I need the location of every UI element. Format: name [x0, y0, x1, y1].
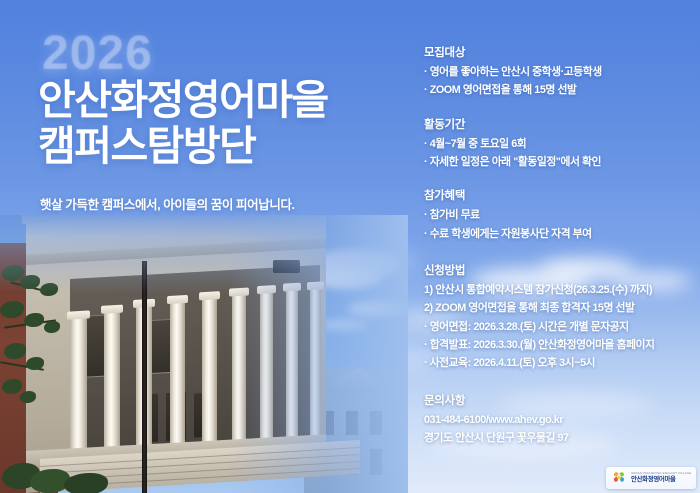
page-title-line2: 캠퍼스탐방단 — [38, 126, 396, 168]
section-line: 2) ZOOM 영어면접을 통해 최종 합격자 15명 선발 — [424, 301, 696, 316]
section-line: · ZOOM 영어면접을 통해 15명 선발 — [424, 83, 696, 98]
section-benefits: 참가혜택 · 참가비 무료 · 수료 학생에게는 자원봉사단 자격 부여 — [424, 187, 696, 242]
section-contact: 문의사항 031-484-6100/www.ahev.go.kr 경기도 안산시… — [424, 392, 696, 447]
campus-building-photo — [0, 215, 408, 493]
section-heading-benefits: 참가혜택 — [424, 187, 696, 203]
section-line: · 사전교육: 2026.4.11.(토) 오후 3시~5시 — [424, 356, 696, 371]
logo-text-block: ANSAN HWAJEONG ENGLISH VILLAGE 안산화정영어마을 — [631, 473, 682, 484]
portico-column — [260, 292, 273, 450]
section-apply: 신청방법 1) 안산시 통합예약시스템 참가신청(26.3.25.(수) 까지)… — [424, 262, 696, 372]
lamp-head — [273, 260, 300, 273]
secondary-building-window — [370, 411, 382, 435]
section-heading-contact: 문의사항 — [424, 392, 696, 408]
section-line: · 영어면접: 2026.3.28.(토) 시간은 개별 문자공지 — [424, 320, 696, 335]
page-title-line1: 안산화정영어마을 — [38, 80, 396, 122]
logo-title: 안산화정영어마을 — [631, 477, 682, 483]
section-heading-apply: 신청방법 — [424, 262, 696, 278]
section-line: · 참가비 무료 — [424, 208, 696, 223]
portico-column — [170, 302, 185, 455]
photo-cloud — [348, 301, 408, 317]
portico-column — [70, 318, 87, 461]
section-heading-period: 활동기간 — [424, 116, 696, 132]
section-period: 활동기간 · 4월~7월 중 토요일 6회 · 자세한 일정은 아래 "활동일정… — [424, 116, 696, 171]
portico-column — [104, 312, 120, 459]
portico-column — [310, 289, 321, 448]
portico-column — [232, 295, 246, 452]
logo-subtitle: ANSAN HWAJEONG ENGLISH VILLAGE — [631, 473, 691, 476]
section-heading-target: 모집대상 — [424, 44, 696, 60]
poster-year: 2026 — [42, 30, 396, 78]
portico-column — [202, 298, 217, 453]
section-line: · 영어를 좋아하는 안산시 중학생·고등학생 — [424, 65, 696, 80]
poster-canvas: 2026 안산화정영어마을 캠퍼스탐방단 햇살 가득한 캠퍼스에서, 아이들의 … — [0, 0, 700, 493]
info-column: 모집대상 · 영어를 좋아하는 안산시 중학생·고등학생 · ZOOM 영어면접… — [424, 44, 696, 446]
section-line: 1) 안산시 통합예약시스템 참가신청(26.3.25.(수) 까지) — [424, 283, 696, 298]
section-target: 모집대상 · 영어를 좋아하는 안산시 중학생·고등학생 · ZOOM 영어면접… — [424, 44, 696, 99]
secondary-building-window — [370, 449, 382, 475]
contact-phone-website[interactable]: 031-484-6100/www.ahev.go.kr — [424, 413, 696, 428]
section-line: · 4월~7월 중 토요일 6회 — [424, 137, 696, 152]
secondary-building-window — [346, 411, 358, 435]
flower-logo-icon — [611, 470, 627, 486]
lamp-post — [142, 261, 147, 493]
poster-tagline: 햇살 가득한 캠퍼스에서, 아이들의 꿈이 피어납니다. — [40, 194, 396, 213]
organization-logo-badge: ANSAN HWAJEONG ENGLISH VILLAGE 안산화정영어마을 — [606, 467, 696, 489]
section-line: · 수료 학생에게는 자원봉사단 자격 부여 — [424, 227, 696, 242]
headline-block: 2026 안산화정영어마을 캠퍼스탐방단 햇살 가득한 캠퍼스에서, 아이들의 … — [36, 30, 396, 213]
contact-address: 경기도 안산시 단원구 꽃우물길 97 — [424, 431, 696, 446]
section-line: · 자세한 일정은 아래 "활동일정"에서 확인 — [424, 155, 696, 170]
portico-column — [286, 290, 298, 449]
section-line: · 합격발표: 2026.3.30.(월) 안산화정영어마을 홈페이지 — [424, 338, 696, 353]
